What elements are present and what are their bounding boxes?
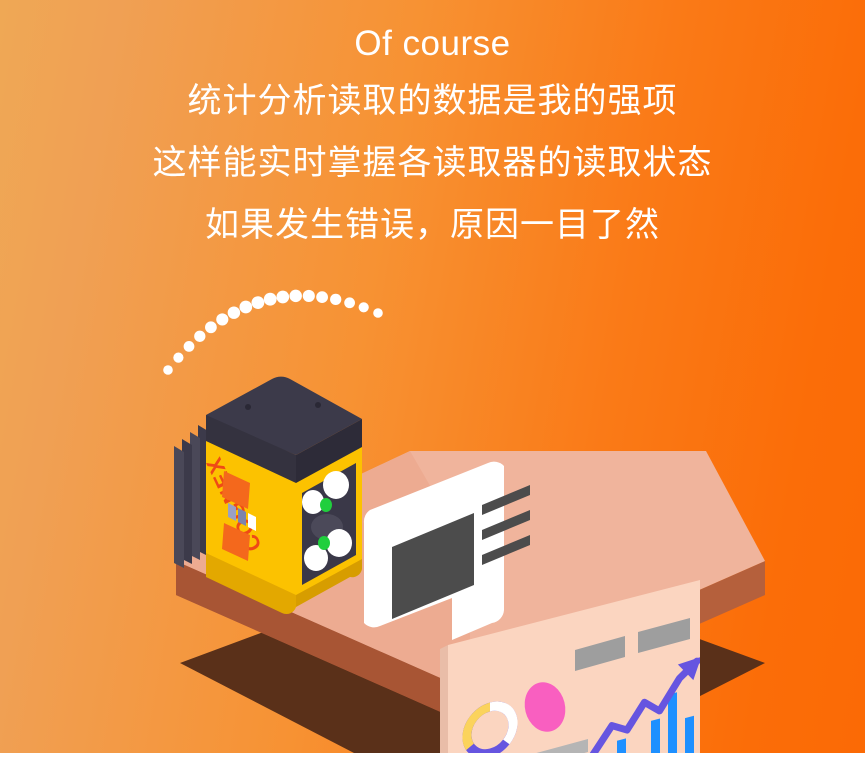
trail-dot [316, 291, 328, 303]
illustration-stage: COGNEX [0, 255, 865, 758]
trail-dot [330, 294, 341, 305]
bottom-white-strip [0, 753, 865, 758]
trail-dot [228, 306, 240, 318]
trail-dot [264, 293, 277, 306]
bar-5 [668, 692, 677, 758]
headline-english: Of course [0, 18, 865, 70]
trail-dot [173, 353, 183, 363]
bar-6 [685, 716, 694, 758]
trail-dot [252, 296, 265, 309]
trail-dot [344, 297, 355, 308]
trail-dot [359, 302, 369, 312]
headline-cn-line-2: 这样能实时掌握各读取器的读取状态 [0, 132, 865, 194]
trail-dot [194, 331, 205, 342]
trail-dot [216, 313, 228, 325]
trail-dot [184, 341, 195, 352]
promo-banner: Of course 统计分析读取的数据是我的强项 这样能实时掌握各读取器的读取状… [0, 0, 865, 758]
trail-dot [276, 291, 289, 304]
trail-dot [205, 321, 217, 333]
headline-cn-line-1: 统计分析读取的数据是我的强项 [0, 70, 865, 132]
headline-cn-line-3: 如果发生错误，原因一目了然 [0, 194, 865, 256]
dots-trail [163, 290, 383, 375]
trail-dot [163, 365, 173, 375]
device-led-bottom [318, 536, 330, 550]
trail-dot [289, 290, 301, 302]
trail-dot [239, 301, 252, 314]
headline-block: Of course 统计分析读取的数据是我的强项 这样能实时掌握各读取器的读取状… [0, 18, 865, 256]
trail-dot [373, 308, 383, 318]
device-led-top [320, 498, 332, 512]
trail-dot [303, 290, 315, 302]
